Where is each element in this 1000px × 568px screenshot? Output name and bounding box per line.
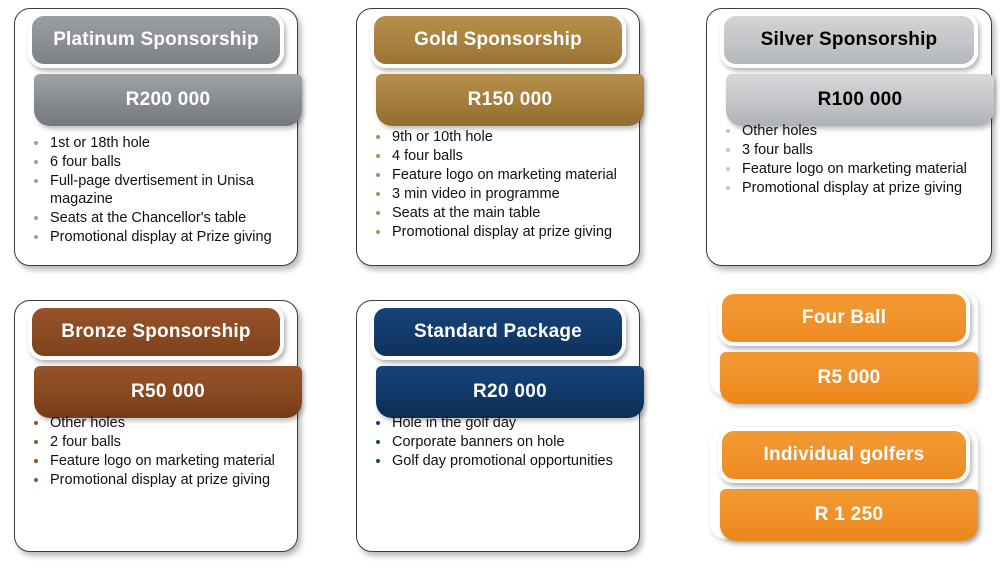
card-price-value: R50 000 bbox=[131, 381, 205, 403]
sponsorship-card-silver[interactable]: Silver Sponsorship R100 000 Other holes … bbox=[706, 8, 992, 266]
list-item: 3 four balls bbox=[722, 141, 988, 159]
list-item: Corporate banners on hole bbox=[372, 433, 634, 451]
card-header-individual-golfers[interactable]: Individual golfers bbox=[718, 427, 970, 483]
list-item: Full-page dvertisement in Unisa magazine bbox=[30, 172, 288, 208]
card-price-four-ball: R5 000 bbox=[720, 352, 978, 404]
card-feature-list: Other holes 2 four balls Feature logo on… bbox=[30, 414, 292, 490]
list-item: Promotional display at Prize giving bbox=[30, 228, 288, 246]
list-item: 4 four balls bbox=[372, 147, 634, 165]
list-item: Promotional display at prize giving bbox=[30, 471, 292, 489]
card-header-four-ball[interactable]: Four Ball bbox=[718, 290, 970, 346]
sponsorship-card-gold[interactable]: Gold Sponsorship R150 000 9th or 10th ho… bbox=[356, 8, 640, 266]
card-header-standard[interactable]: Standard Package bbox=[370, 304, 626, 360]
card-title: Individual golfers bbox=[754, 445, 935, 465]
list-item: Feature logo on marketing material bbox=[722, 160, 988, 178]
list-item: Feature logo on marketing material bbox=[372, 166, 634, 184]
list-item: Seats at the Chancellor's table bbox=[30, 209, 288, 227]
card-title: Bronze Sponsorship bbox=[51, 322, 260, 342]
card-price-value: R200 000 bbox=[126, 89, 211, 111]
list-item: Other holes bbox=[30, 414, 292, 432]
card-header-bronze[interactable]: Bronze Sponsorship bbox=[28, 304, 284, 360]
card-feature-list: 9th or 10th hole 4 four balls Feature lo… bbox=[372, 128, 634, 242]
list-item: Golf day promotional opportunities bbox=[372, 452, 634, 470]
card-price-value: R 1 250 bbox=[815, 504, 884, 526]
list-item: Feature logo on marketing material bbox=[30, 452, 292, 470]
card-price-gold: R150 000 bbox=[376, 74, 644, 126]
list-item: 9th or 10th hole bbox=[372, 128, 634, 146]
list-item: Promotional display at prize giving bbox=[722, 179, 988, 197]
card-price-value: R20 000 bbox=[473, 381, 547, 403]
card-price-platinum: R200 000 bbox=[34, 74, 302, 126]
list-item: 2 four balls bbox=[30, 433, 292, 451]
list-item: 6 four balls bbox=[30, 153, 288, 171]
card-title: Gold Sponsorship bbox=[404, 30, 592, 50]
card-title: Four Ball bbox=[792, 308, 896, 328]
card-title: Standard Package bbox=[404, 322, 592, 342]
card-feature-list: Hole in the golf day Corporate banners o… bbox=[372, 414, 634, 471]
card-title: Silver Sponsorship bbox=[751, 30, 948, 50]
card-price-value: R100 000 bbox=[818, 89, 903, 111]
list-item: 1st or 18th hole bbox=[30, 134, 288, 152]
sponsorship-card-standard[interactable]: Standard Package R20 000 Hole in the gol… bbox=[356, 300, 640, 552]
card-feature-list: Other holes 3 four balls Feature logo on… bbox=[722, 122, 988, 198]
card-price-bronze: R50 000 bbox=[34, 366, 302, 418]
list-item: Hole in the golf day bbox=[372, 414, 634, 432]
card-price-silver: R100 000 bbox=[726, 74, 994, 126]
card-title: Platinum Sponsorship bbox=[43, 30, 269, 50]
sponsorship-card-four-ball[interactable]: Four Ball R5 000 bbox=[710, 290, 978, 396]
card-price-individual-golfers: R 1 250 bbox=[720, 489, 978, 541]
list-item: Other holes bbox=[722, 122, 988, 140]
list-item: Seats at the main table bbox=[372, 204, 634, 222]
list-item: 3 min video in programme bbox=[372, 185, 634, 203]
list-item: Promotional display at prize giving bbox=[372, 223, 634, 241]
sponsorship-packages-board: Platinum Sponsorship R200 000 1st or 18t… bbox=[0, 0, 1000, 568]
card-feature-list: 1st or 18th hole 6 four balls Full-page … bbox=[30, 134, 288, 247]
card-price-value: R5 000 bbox=[817, 367, 880, 389]
card-header-platinum[interactable]: Platinum Sponsorship bbox=[28, 12, 284, 68]
card-price-standard: R20 000 bbox=[376, 366, 644, 418]
card-price-value: R150 000 bbox=[468, 89, 553, 111]
card-header-gold[interactable]: Gold Sponsorship bbox=[370, 12, 626, 68]
sponsorship-card-bronze[interactable]: Bronze Sponsorship R50 000 Other holes 2… bbox=[14, 300, 298, 552]
card-header-silver[interactable]: Silver Sponsorship bbox=[720, 12, 978, 68]
sponsorship-card-platinum[interactable]: Platinum Sponsorship R200 000 1st or 18t… bbox=[14, 8, 298, 266]
sponsorship-card-individual-golfers[interactable]: Individual golfers R 1 250 bbox=[710, 427, 978, 539]
